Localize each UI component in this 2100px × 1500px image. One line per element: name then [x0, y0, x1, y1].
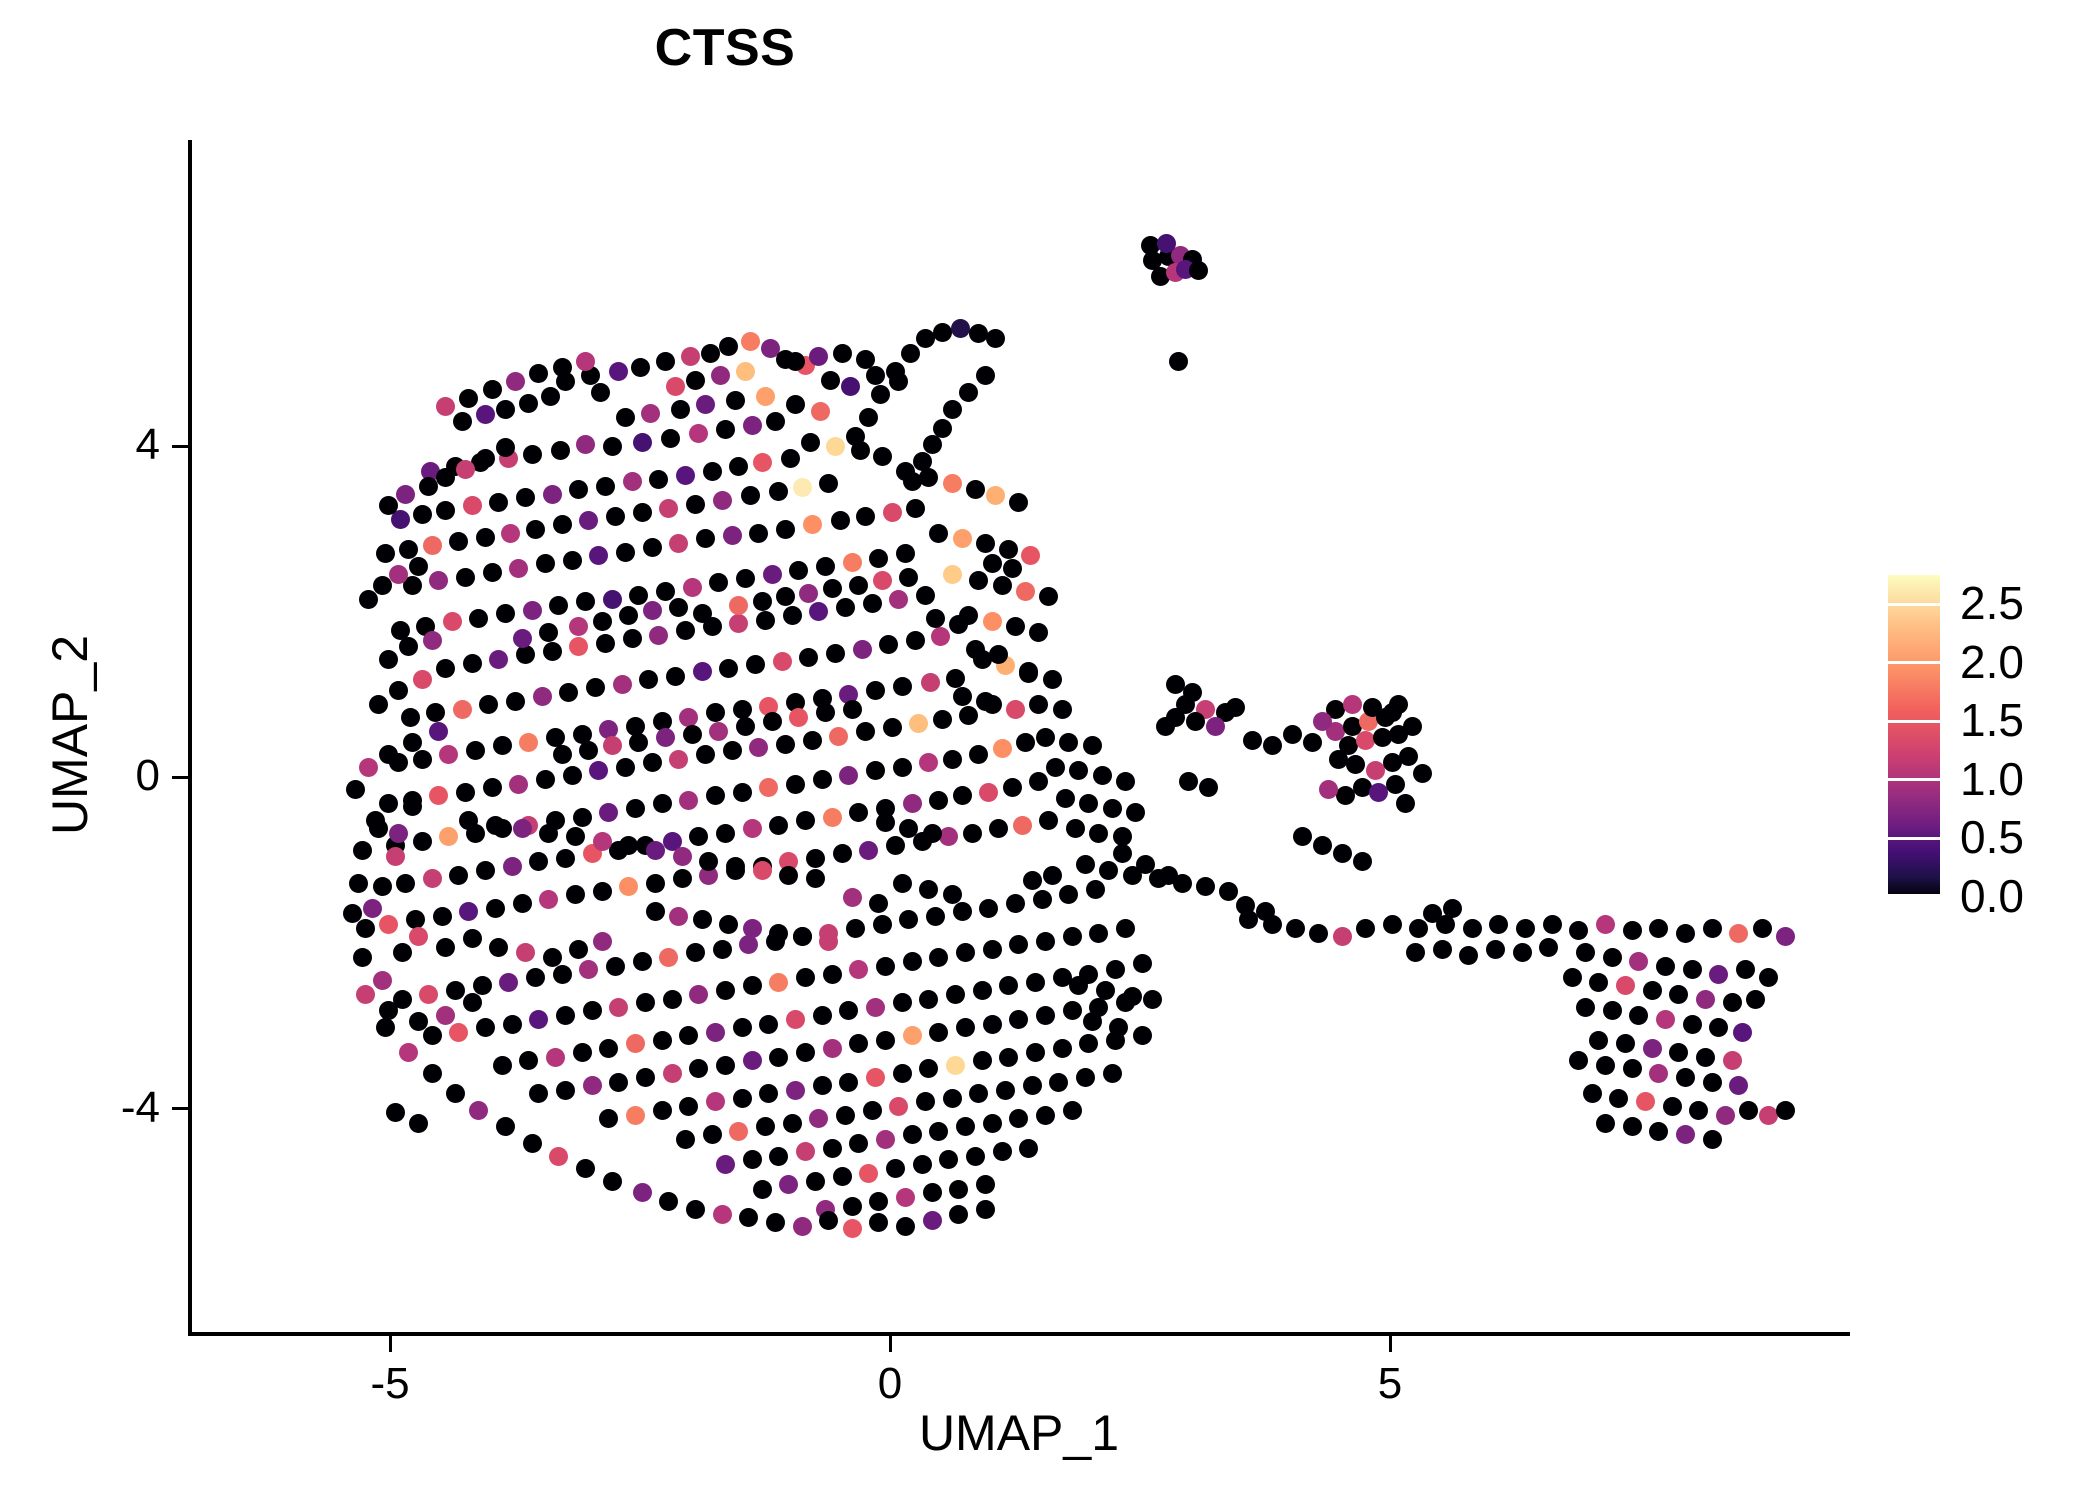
scatter-point: [793, 478, 812, 497]
scatter-point: [359, 758, 378, 777]
scatter-point: [1256, 902, 1275, 921]
scatter-point: [759, 1084, 778, 1103]
scatter-point: [1303, 733, 1322, 752]
scatter-point: [903, 472, 922, 491]
scatter-point: [573, 725, 592, 744]
scatter-point: [519, 733, 538, 752]
scatter-point: [821, 371, 840, 390]
scatter-point: [753, 861, 772, 880]
scatter-point: [876, 1130, 895, 1149]
scatter-point: [1169, 352, 1188, 371]
scatter-point: [1729, 924, 1748, 943]
scatter-point: [663, 990, 682, 1009]
scatter-point: [1079, 1034, 1098, 1053]
scatter-point: [1063, 1001, 1082, 1020]
scatter-point: [1609, 1089, 1628, 1108]
scatter-point: [979, 899, 998, 918]
scatter-point: [1389, 695, 1408, 714]
scatter-point: [661, 429, 680, 448]
scatter-point: [409, 557, 428, 576]
scatter-point: [999, 976, 1018, 995]
scatter-point: [953, 529, 972, 548]
scatter-point: [929, 948, 948, 967]
scatter-point: [796, 1142, 815, 1161]
scatter-point: [823, 1139, 842, 1158]
scatter-point: [666, 667, 685, 686]
scatter-point: [496, 604, 515, 623]
scatter-point: [733, 700, 752, 719]
scatter-point: [603, 1172, 622, 1191]
scatter-point: [476, 405, 495, 424]
scatter-point: [459, 389, 478, 408]
scatter-point: [741, 332, 760, 351]
scatter-point: [1616, 976, 1635, 995]
scatter-point: [786, 1010, 805, 1029]
scatter-point: [419, 477, 438, 496]
scatter-point: [653, 1101, 672, 1120]
scatter-point: [959, 706, 978, 725]
scatter-point: [1013, 816, 1032, 835]
scatter-point: [423, 536, 442, 555]
scatter-point: [636, 993, 655, 1012]
scatter-point: [653, 794, 672, 813]
scatter-point: [823, 808, 842, 827]
scatter-point: [1133, 1026, 1152, 1045]
scatter-point: [769, 973, 788, 992]
scatter-point: [653, 712, 672, 731]
scatter-point: [966, 1147, 985, 1166]
scatter-point: [851, 441, 870, 460]
scatter-point: [686, 943, 705, 962]
scatter-point: [1623, 921, 1642, 940]
scatter-point: [386, 836, 405, 855]
scatter-point: [763, 712, 782, 731]
scatter-point: [983, 1015, 1002, 1034]
scatter-point: [679, 1026, 698, 1045]
scatter-point: [553, 515, 572, 534]
scatter-point: [1123, 987, 1142, 1006]
scatter-point: [581, 366, 600, 385]
page-title: CTSS: [0, 22, 1450, 74]
scatter-point: [719, 337, 738, 356]
scatter-point: [1413, 764, 1432, 783]
scatter-point: [799, 648, 818, 667]
y-tick-label: -4: [90, 1086, 160, 1130]
scatter-point: [373, 971, 392, 990]
scatter-point: [529, 364, 548, 383]
scatter-point: [966, 480, 985, 499]
scatter-point: [439, 827, 458, 846]
scatter-point: [1151, 267, 1170, 286]
scatter-point: [489, 938, 508, 957]
scatter-point: [539, 824, 558, 843]
colorbar-gradient: [1888, 575, 1940, 897]
scatter-point: [1053, 1039, 1072, 1058]
scatter-point: [763, 565, 782, 584]
scatter-point: [443, 612, 462, 631]
scatter-point: [493, 819, 512, 838]
scatter-point: [786, 693, 805, 712]
scatter-point: [686, 371, 705, 390]
scatter-point: [449, 1023, 468, 1042]
scatter-point: [1733, 1023, 1752, 1042]
colorbar-tick-label: 0.5: [1960, 814, 2024, 860]
scatter-point: [871, 385, 890, 404]
scatter-point: [769, 1048, 788, 1067]
scatter-point: [1583, 1084, 1602, 1103]
scatter-point: [679, 1097, 698, 1116]
scatter-point: [1179, 772, 1198, 791]
scatter-point: [726, 391, 745, 410]
scatter-point: [1239, 910, 1258, 929]
scatter-point: [706, 1092, 725, 1111]
scatter-point: [1019, 662, 1038, 681]
scatter-point: [596, 477, 615, 496]
scatter-point: [1596, 915, 1615, 934]
scatter-point: [813, 770, 832, 789]
scatter-point: [459, 902, 478, 921]
scatter-point: [633, 952, 652, 971]
scatter-point: [693, 910, 712, 929]
scatter-point: [646, 874, 665, 893]
scatter-point: [696, 745, 715, 764]
scatter-point: [859, 1164, 878, 1183]
scatter-point: [1029, 623, 1048, 642]
scatter-point: [399, 540, 418, 559]
scatter-point: [429, 786, 448, 805]
scatter-point: [1313, 836, 1332, 855]
scatter-point: [353, 948, 372, 967]
scatter-point: [783, 1114, 802, 1133]
scatter-point: [516, 943, 535, 962]
scatter-point: [753, 1180, 772, 1199]
scatter-point: [386, 1103, 405, 1122]
scatter-point: [681, 347, 700, 366]
scatter-point: [439, 745, 458, 764]
scatter-point: [831, 511, 850, 530]
scatter-point: [1759, 968, 1778, 987]
scatter-point: [1029, 772, 1048, 791]
scatter-point: [833, 344, 852, 363]
scatter-point: [446, 457, 465, 476]
scatter-point: [489, 650, 508, 669]
scatter-point: [436, 938, 455, 957]
scatter-point: [996, 656, 1015, 675]
x-tick-label: 0: [830, 1362, 950, 1406]
scatter-point: [599, 720, 618, 739]
scatter-point: [1703, 919, 1722, 938]
scatter-point: [593, 932, 612, 951]
scatter-point: [949, 1180, 968, 1199]
scatter-point: [1739, 1101, 1758, 1120]
scatter-point: [769, 1147, 788, 1166]
scatter-point: [893, 1064, 912, 1083]
scatter-point: [756, 611, 775, 630]
scatter-point: [743, 819, 762, 838]
scatter-point: [589, 546, 608, 565]
scatter-point: [873, 571, 892, 590]
scatter-point: [1563, 968, 1582, 987]
colorbar-tick-label: 0.0: [1960, 873, 2024, 919]
scatter-point: [436, 1006, 455, 1025]
scatter-point: [413, 670, 432, 689]
scatter-point: [553, 358, 572, 377]
scatter-point: [1106, 1031, 1125, 1050]
scatter-point: [986, 486, 1005, 505]
scatter-point: [1149, 869, 1168, 888]
scatter-point: [476, 449, 495, 468]
scatter-point: [969, 745, 988, 764]
scatter-point: [899, 910, 918, 929]
scatter-point: [399, 637, 418, 656]
scatter-point: [379, 794, 398, 813]
scatter-point: [586, 678, 605, 697]
scatter-point: [943, 474, 962, 493]
scatter-point: [636, 836, 655, 855]
scatter-point: [619, 836, 638, 855]
scatter-point: [1113, 827, 1132, 846]
scatter-point: [403, 733, 422, 752]
scatter-point: [716, 1056, 735, 1075]
scatter-point: [471, 453, 490, 472]
scatter-point: [653, 1031, 672, 1050]
scatter-point: [486, 816, 505, 835]
scatter-point: [513, 629, 532, 648]
scatter-point: [856, 507, 875, 526]
scatter-point: [1576, 998, 1595, 1017]
scatter-point: [1176, 695, 1195, 714]
scatter-point: [849, 1034, 868, 1053]
scatter-point: [639, 670, 658, 689]
scatter-point: [399, 1043, 418, 1062]
scatter-point: [423, 631, 442, 650]
scatter-point: [809, 602, 828, 621]
scatter-point: [919, 1059, 938, 1078]
scatter-point: [1516, 919, 1535, 938]
scatter-point: [769, 482, 788, 501]
scatter-point: [1116, 772, 1135, 791]
scatter-point: [1196, 877, 1215, 896]
scatter-point: [516, 645, 535, 664]
scatter-point: [976, 692, 995, 711]
scatter-point: [929, 524, 948, 543]
scatter-point: [1486, 940, 1505, 959]
scatter-point: [949, 615, 968, 634]
y-tick-label: 0: [90, 754, 160, 798]
scatter-point: [1036, 1006, 1055, 1025]
scatter-point: [696, 529, 715, 548]
scatter-point: [843, 553, 862, 572]
scatter-point: [703, 1125, 722, 1144]
scatter-point: [729, 614, 748, 633]
scatter-point: [343, 904, 362, 923]
scatter-point: [759, 697, 778, 716]
scatter-point: [529, 1010, 548, 1029]
scatter-point: [1723, 993, 1742, 1012]
scatter-point: [1423, 904, 1442, 923]
scatter-point: [556, 372, 575, 391]
scatter-point: [501, 524, 520, 543]
scatter-point: [506, 692, 525, 711]
scatter-point: [526, 968, 545, 987]
scatter-point: [1079, 965, 1098, 984]
scatter-point: [1226, 698, 1245, 717]
scatter-point: [786, 395, 805, 414]
scatter-point: [1019, 1139, 1038, 1158]
scatter-point: [669, 907, 688, 926]
scatter-point: [933, 710, 952, 729]
scatter-point: [599, 1039, 618, 1058]
scatter-point: [436, 659, 455, 678]
scatter-point: [706, 786, 725, 805]
scatter-point: [866, 681, 885, 700]
scatter-point: [863, 594, 882, 613]
scatter-point: [609, 1073, 628, 1092]
scatter-point: [1159, 247, 1178, 266]
scatter-point: [963, 824, 982, 843]
scatter-point: [889, 590, 908, 609]
scatter-point: [393, 990, 412, 1009]
scatter-point: [1623, 1117, 1642, 1136]
scatter-point: [391, 510, 410, 529]
scatter-point: [1596, 1114, 1615, 1133]
scatter-point: [1459, 946, 1478, 965]
scatter-point: [983, 554, 1002, 573]
scatter-point: [703, 462, 722, 481]
scatter-point: [1009, 493, 1028, 512]
colorbar-tick-mark: [1888, 720, 1940, 723]
scatter-point: [761, 339, 780, 358]
scatter-point: [956, 1117, 975, 1136]
scatter-point: [779, 1175, 798, 1194]
scatter-point: [463, 654, 482, 673]
scatter-point: [976, 1200, 995, 1219]
scatter-point: [906, 499, 925, 518]
scatter-point: [569, 617, 588, 636]
scatter-point: [813, 1006, 832, 1025]
scatter-point: [603, 736, 622, 755]
scatter-point: [603, 437, 622, 456]
scatter-point: [1436, 915, 1455, 934]
scatter-point: [1319, 780, 1338, 799]
scatter-point: [926, 609, 945, 628]
scatter-point: [816, 703, 835, 722]
scatter-point: [379, 745, 398, 764]
scatter-point: [753, 453, 772, 472]
scatter-point: [733, 1018, 752, 1037]
scatter-point: [456, 783, 475, 802]
scatter-point: [436, 501, 455, 520]
scatter-point: [606, 957, 625, 976]
scatter-point: [836, 1106, 855, 1125]
scatter-point: [1056, 789, 1075, 808]
scatter-point: [683, 725, 702, 744]
scatter-point: [463, 496, 482, 515]
scatter-point: [1696, 990, 1715, 1009]
scatter-point: [1729, 1076, 1748, 1095]
scatter-point: [1753, 919, 1772, 938]
scatter-point: [356, 919, 375, 938]
scatter-point: [976, 366, 995, 385]
scatter-point: [486, 899, 505, 918]
colorbar-tick-label: 1.0: [1960, 756, 2024, 802]
scatter-point: [1183, 683, 1202, 702]
scatter-point: [1039, 587, 1058, 606]
scatter-point: [736, 362, 755, 381]
scatter-point: [676, 621, 695, 640]
scatter-point: [476, 1018, 495, 1037]
scatter-point: [1171, 246, 1190, 265]
scatter-point: [726, 861, 745, 880]
scatter-point: [896, 544, 915, 563]
scatter-point: [369, 695, 388, 714]
scatter-point: [556, 1006, 575, 1025]
scatter-point: [1006, 894, 1025, 913]
scatter-point: [513, 819, 532, 838]
scatter-point: [741, 486, 760, 505]
scatter-point: [463, 993, 482, 1012]
scatter-point: [689, 424, 708, 443]
scatter-point: [943, 885, 962, 904]
scatter-point: [1396, 794, 1415, 813]
scatter-point: [939, 827, 958, 846]
scatter-point: [793, 1217, 812, 1236]
scatter-point: [369, 819, 388, 838]
scatter-point: [921, 673, 940, 692]
scatter-point: [656, 582, 675, 601]
scatter-point: [563, 551, 582, 570]
scatter-point: [943, 1089, 962, 1108]
scatter-point: [1089, 924, 1108, 943]
scatter-points-layer: [0, 0, 2100, 1500]
scatter-point: [706, 703, 725, 722]
scatter-point: [1389, 725, 1408, 744]
scatter-point: [476, 528, 495, 547]
scatter-point: [449, 866, 468, 885]
scatter-point: [1103, 799, 1122, 818]
scatter-point: [1376, 708, 1395, 727]
scatter-point: [919, 990, 938, 1009]
scatter-point: [893, 677, 912, 696]
scatter-point: [533, 687, 552, 706]
scatter-point: [569, 480, 588, 499]
scatter-point: [401, 708, 420, 727]
scatter-point: [643, 753, 662, 772]
scatter-point: [1669, 985, 1688, 1004]
scatter-point: [483, 563, 502, 582]
scatter-point: [576, 435, 595, 454]
scatter-point: [1116, 993, 1135, 1012]
scatter-point: [1716, 1106, 1735, 1125]
scatter-point: [893, 874, 912, 893]
scatter-point: [1009, 1109, 1028, 1128]
scatter-point: [703, 617, 722, 636]
scatter-point: [1373, 728, 1392, 747]
scatter-point: [869, 894, 888, 913]
scatter-point: [983, 1114, 1002, 1133]
scatter-point: [843, 700, 862, 719]
scatter-point: [459, 811, 478, 830]
scatter-point: [1489, 915, 1508, 934]
scatter-point: [1596, 1056, 1615, 1075]
scatter-point: [886, 836, 905, 855]
scatter-point: [456, 460, 475, 479]
scatter-point: [616, 543, 635, 562]
scatter-point: [476, 861, 495, 880]
scatter-point: [466, 741, 485, 760]
scatter-point: [729, 457, 748, 476]
scatter-point: [803, 515, 822, 534]
